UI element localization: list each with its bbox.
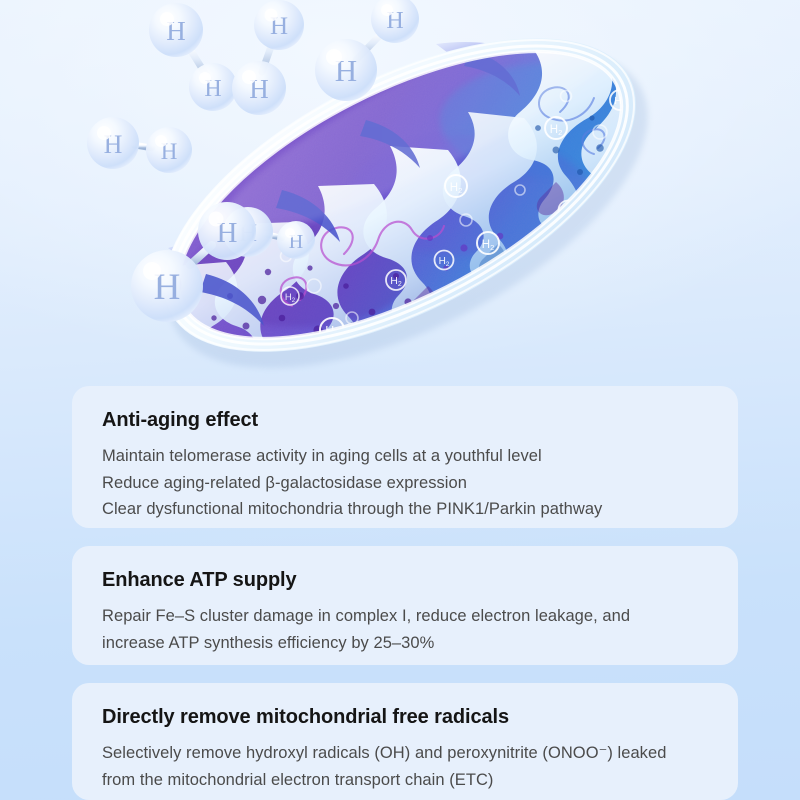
card-atp-supply[interactable]: Enhance ATP supply Repair Fe–S cluster d… <box>72 546 738 665</box>
card-line: Clear dysfunctional mitochondria through… <box>102 496 708 523</box>
h2-molecule-1: H H <box>149 3 237 111</box>
card-line: Selectively remove hydroxyl radicals (OH… <box>102 740 708 767</box>
card-line: Maintain telomerase activity in aging ce… <box>102 443 708 470</box>
card-line: Repair Fe–S cluster damage in complex I,… <box>102 603 708 630</box>
card-line: Reduce aging-related β-galactosidase exp… <box>102 470 708 497</box>
h2-molecule-4: H H <box>87 117 192 173</box>
page-root: H2 H2 H2 H2 <box>0 0 800 800</box>
mitochondrion: H2 H2 H2 H2 <box>117 0 710 400</box>
hero-illustration: H2 H2 H2 H2 <box>0 0 800 400</box>
card-free-radicals[interactable]: Directly remove mitochondrial free radic… <box>72 683 738 800</box>
h2-molecule-2: H H <box>232 0 304 115</box>
card-title: Enhance ATP supply <box>102 568 708 593</box>
card-title: Directly remove mitochondrial free radic… <box>102 705 708 730</box>
svg-text:H2: H2 <box>631 182 642 194</box>
card-line: increase ATP synthesis efficiency by 25–… <box>102 630 708 657</box>
card-anti-aging[interactable]: Anti-aging effect Maintain telomerase ac… <box>72 386 738 528</box>
card-title: Anti-aging effect <box>102 408 708 433</box>
svg-text:H2: H2 <box>694 141 706 154</box>
svg-text:H2: H2 <box>674 63 686 76</box>
card-line: from the mitochondrial electron transpor… <box>102 767 708 794</box>
